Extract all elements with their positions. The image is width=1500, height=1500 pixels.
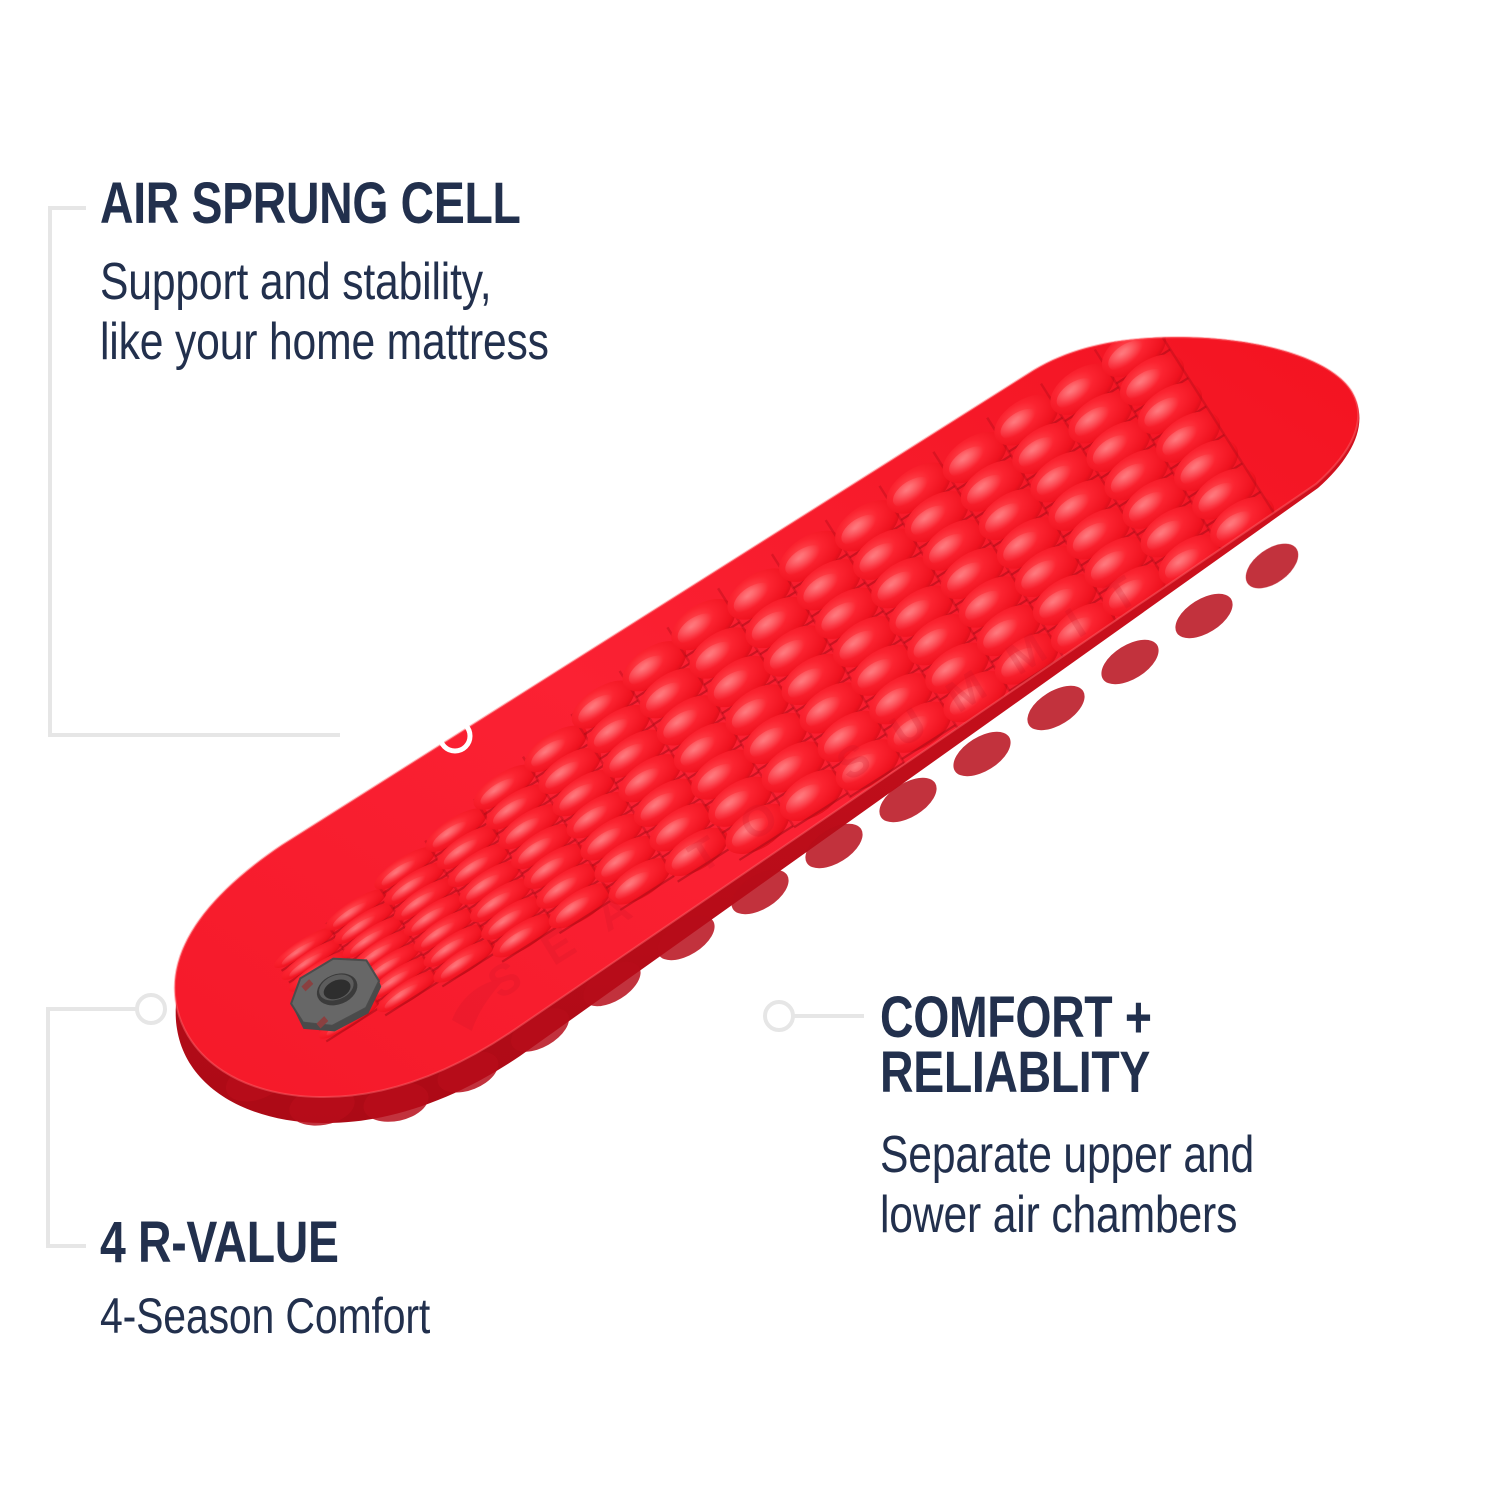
callout-air-sprung-cell-body: Support and stability, like your home ma…: [100, 253, 549, 373]
callout-comfort-reliability-title: COMFORT + RELIABLITY: [880, 990, 1245, 1100]
callout-body-line: Support and stability,: [100, 253, 549, 313]
callout-body-line: like your home mattress: [100, 313, 549, 373]
callout-r-value: 4 R-VALUE 4-Season Comfort: [100, 1215, 503, 1346]
callout-comfort-reliability-body: Separate upper and lower air chambers: [880, 1126, 1254, 1246]
infographic-canvas: SEA TO SUMMIT: [0, 0, 1500, 1500]
callout-title-line: COMFORT +: [880, 990, 1245, 1045]
callout-body-line: Separate upper and: [880, 1126, 1254, 1186]
callout-body-line: lower air chambers: [880, 1186, 1254, 1246]
callout-air-sprung-cell: AIR SPRUNG CELL Support and stability, l…: [100, 176, 647, 373]
callout-comfort-reliability: COMFORT + RELIABLITY Separate upper and …: [880, 990, 1336, 1246]
callout-air-sprung-cell-title: AIR SPRUNG CELL: [100, 176, 538, 231]
callout-r-value-title: 4 R-VALUE: [100, 1215, 422, 1270]
callout-r-value-body: 4-Season Comfort: [100, 1288, 430, 1346]
callout-body-line: 4-Season Comfort: [100, 1288, 430, 1346]
callout-title-line: RELIABLITY: [880, 1045, 1245, 1100]
